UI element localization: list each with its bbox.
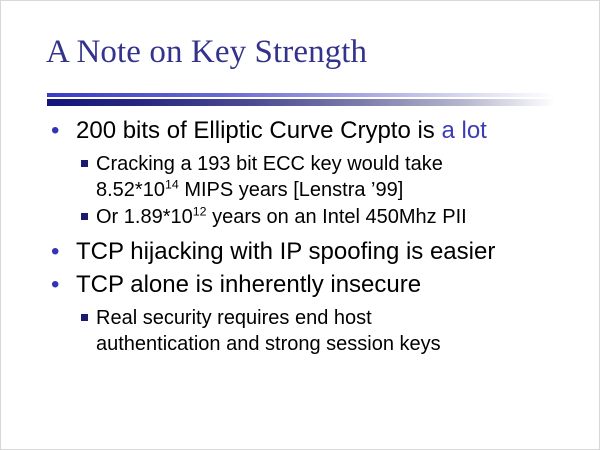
bullet-dot-icon: • (51, 236, 71, 268)
subbullet-2-line-1: Or 1.89*1012 years on an Intel 450Mhz PI… (96, 204, 600, 230)
subbullet-1-line-1: Cracking a 193 bit ECC key would take (96, 151, 600, 177)
subbullet-1-mantissa: 8.52*10 (96, 179, 165, 201)
divider-thick-bar (47, 99, 555, 106)
bullet-1-text: 200 bits of Elliptic Curve Crypto is (76, 117, 441, 144)
bullet-square-icon (81, 314, 88, 321)
bullet-2-text: TCP hijacking with IP spoofing is easier (76, 238, 495, 265)
bullet-1-accent-text: a lot (441, 117, 486, 144)
bullet-dot-icon: • (51, 115, 71, 147)
subbullet-3-line-1: Real security requires end host (96, 305, 600, 331)
bullet-item-3: • TCP alone is inherently insecure (1, 269, 600, 301)
subbullet-item-3: Real security requires end host authenti… (1, 305, 600, 357)
subbullet-item-1: Cracking a 193 bit ECC key would take 8.… (1, 151, 600, 203)
subbullet-2-tail: years on an Intel 450Mhz PII (207, 206, 467, 228)
subbullet-2-mantissa: Or 1.89*10 (96, 206, 193, 228)
bullet-item-1: • 200 bits of Elliptic Curve Crypto is a… (1, 115, 600, 147)
bullet-square-icon (81, 213, 88, 220)
slide-title: A Note on Key Strength (46, 33, 367, 71)
slide-canvas: A Note on Key Strength • 200 bits of Ell… (0, 0, 600, 450)
slide-body: • 200 bits of Elliptic Curve Crypto is a… (1, 115, 600, 358)
bullet-3-text: TCP alone is inherently insecure (76, 271, 421, 298)
subbullet-item-2: Or 1.89*1012 years on an Intel 450Mhz PI… (1, 204, 600, 230)
bullet-item-2: • TCP hijacking with IP spoofing is easi… (1, 236, 600, 268)
subbullet-1-exponent: 14 (165, 177, 179, 191)
subbullet-1-line-2: 8.52*1014 MIPS years [Lenstra ’99] (96, 177, 600, 203)
subbullet-1-tail: MIPS years [Lenstra ’99] (179, 179, 404, 201)
subbullet-3-line-2: authentication and strong session keys (96, 331, 600, 357)
subbullet-2-exponent: 12 (193, 204, 207, 218)
bullet-square-icon (81, 160, 88, 167)
bullet-dot-icon: • (51, 269, 71, 301)
title-divider (47, 93, 555, 106)
